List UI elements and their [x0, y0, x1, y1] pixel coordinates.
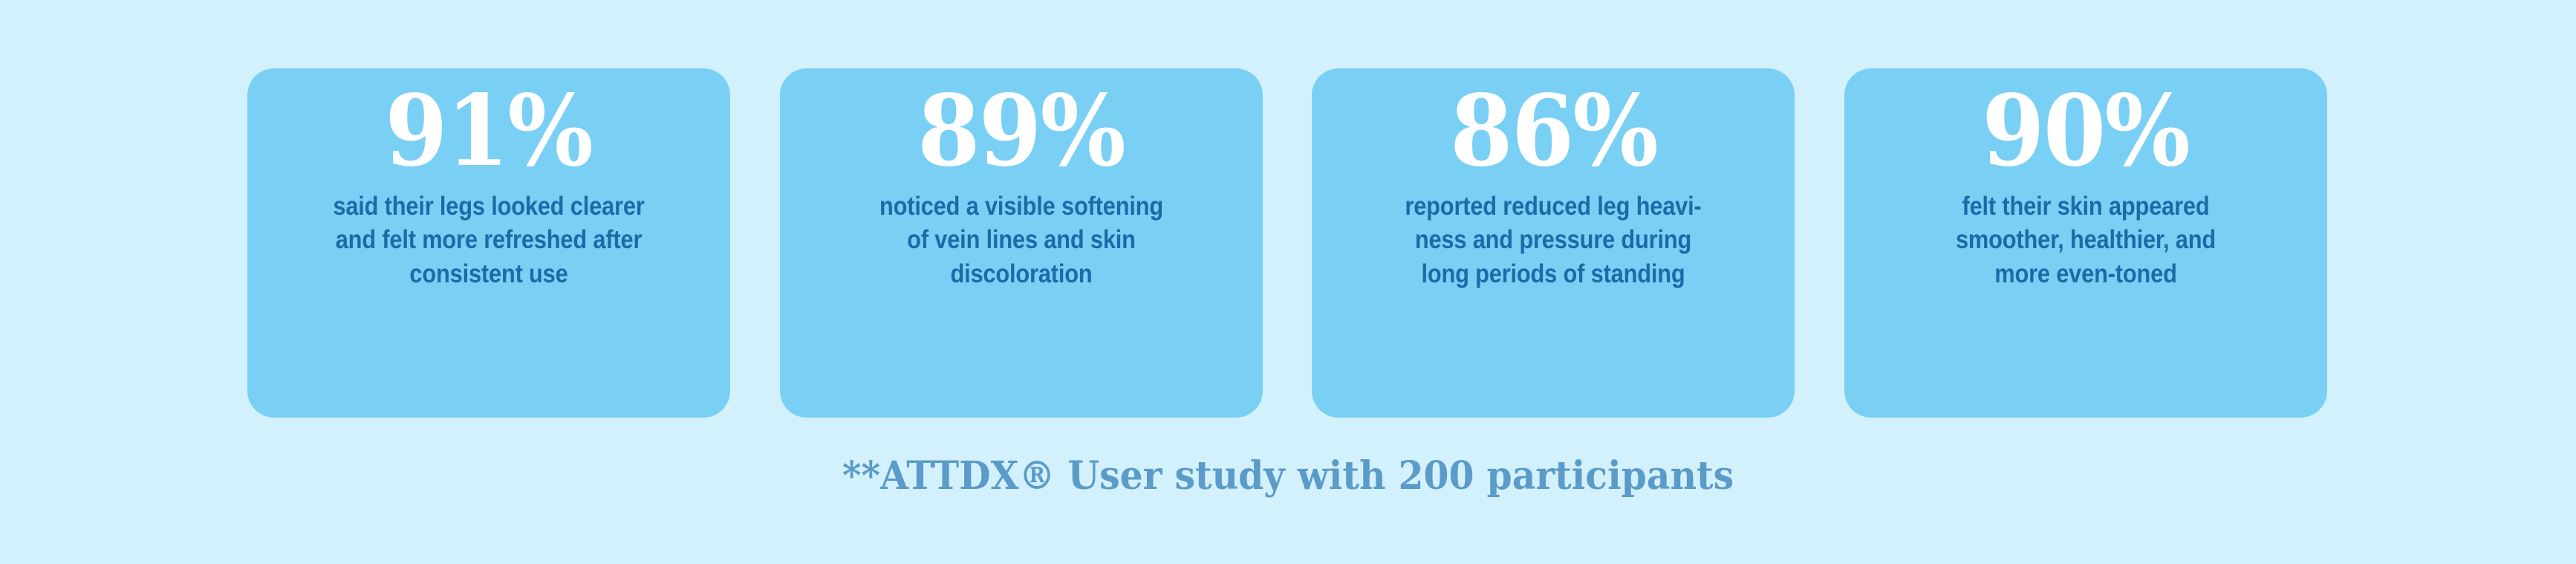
stat-value-4: 90%	[1983, 82, 2190, 182]
stat-description-1: said their legs looked clearer and felt …	[290, 189, 686, 291]
stat-card-1: 91% said their legs looked clearer and f…	[247, 68, 730, 418]
study-footnote: **ATTDX® User study with 200 participant…	[77, 455, 2499, 497]
stat-value-1: 91%	[386, 82, 593, 182]
stat-card-3: 86% reported reduced leg heavi- ness and…	[1312, 68, 1795, 418]
stats-banner: 91% said their legs looked clearer and f…	[0, 0, 2576, 564]
stat-description-4-line-3: more even-toned	[1887, 257, 2283, 291]
stat-card-row: 91% said their legs looked clearer and f…	[247, 68, 2327, 418]
stat-description-4-line-2: smoother, healthier, and	[1887, 223, 2283, 257]
stat-description-2: noticed a visible softening of vein line…	[823, 189, 1219, 291]
stat-description-1-line-3: consistent use	[290, 257, 686, 291]
stat-description-3-line-2: ness and pressure during	[1356, 223, 1752, 257]
stat-description-1-line-2: and felt more refreshed after	[290, 223, 686, 257]
stat-description-3-line-3: long periods of standing	[1356, 257, 1752, 291]
stat-description-4-line-1: felt their skin appeared	[1887, 189, 2283, 224]
stat-description-2-line-3: discoloration	[823, 257, 1219, 291]
stat-description-2-line-2: of vein lines and skin	[823, 223, 1219, 257]
stat-description-2-line-1: noticed a visible softening	[823, 189, 1219, 224]
stat-card-2: 89% noticed a visible softening of vein …	[780, 68, 1263, 418]
stat-description-1-line-1: said their legs looked clearer	[290, 189, 686, 224]
stat-description-3-line-1: reported reduced leg heavi-	[1356, 189, 1752, 224]
stat-description-4: felt their skin appeared smoother, healt…	[1887, 189, 2283, 291]
stat-value-2: 89%	[917, 82, 1125, 182]
stat-value-3: 86%	[1450, 82, 1657, 182]
stat-card-4: 90% felt their skin appeared smoother, h…	[1844, 68, 2327, 418]
stat-description-3: reported reduced leg heavi- ness and pre…	[1356, 189, 1752, 291]
